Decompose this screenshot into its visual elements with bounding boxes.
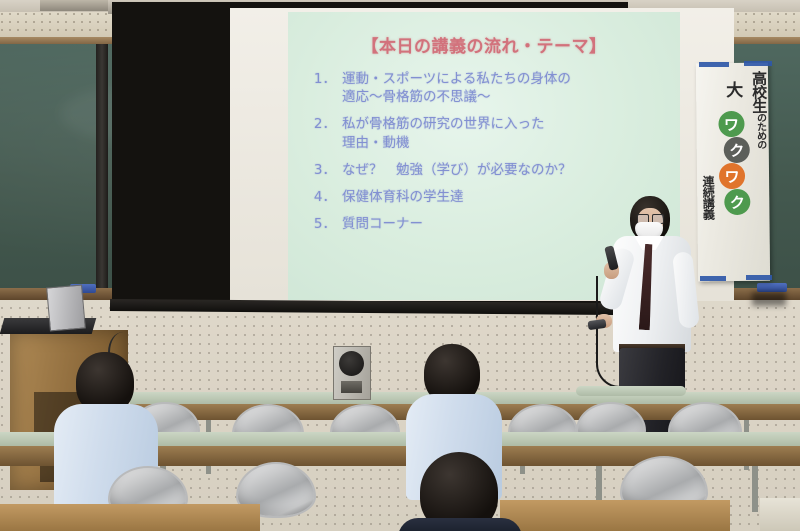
table-top-strip (576, 386, 686, 396)
list-item-text: 質問コーナー (342, 215, 670, 233)
list-item-number: 5． (310, 215, 342, 233)
banner-tape-bottom-right (746, 275, 772, 280)
list-item-line1: 質問コーナー (342, 216, 423, 232)
chalkboard-divider-left (96, 44, 108, 290)
banner-circle-4: ク (724, 189, 750, 215)
list-item-line1: なぜ？ 勉強（学び）が必要なのか？ (342, 162, 572, 178)
banner-text-small: のための (754, 113, 765, 149)
eraser-shadow (752, 292, 786, 306)
list-item-number: 1． (310, 70, 342, 88)
list-item-line2: 理由・動機 (342, 134, 670, 152)
list-item-number: 4． (310, 188, 342, 206)
slide-agenda-list: 1． 運動・スポーツによる私たちの身体の 適応〜骨格筋の不思議〜 2． 私が骨格… (310, 70, 670, 243)
banner-tape-left (699, 62, 729, 67)
banner-circle-2: ク (724, 137, 750, 163)
banner-text-main: 高校生 (750, 71, 768, 113)
list-item: 1． 運動・スポーツによる私たちの身体の 適応〜骨格筋の不思議〜 (310, 70, 670, 106)
list-item-text: 運動・スポーツによる私たちの身体の 適応〜骨格筋の不思議〜 (342, 70, 670, 106)
list-item: 5． 質問コーナー (310, 215, 670, 233)
slide-title: 【本日の講義の流れ・テーマ】 (288, 32, 680, 57)
list-item: 4． 保健体育科の学生達 (310, 188, 670, 206)
speaker-cone-icon (339, 351, 364, 376)
list-item-text: 私が骨格筋の研究の世界に入った 理由・動機 (342, 115, 670, 151)
student-torso (398, 518, 522, 531)
table-leg (752, 466, 758, 512)
banner-column-mid: 大 (720, 81, 745, 98)
event-banner: 高校生のための 大 ワ ク ワ ク 連続講義 (696, 63, 770, 282)
laptop-screen[interactable] (46, 285, 86, 332)
list-item-line2: 適応〜骨格筋の不思議〜 (342, 88, 670, 106)
list-item: 3． なぜ？ 勉強（学び）が必要なのか？ (310, 161, 670, 179)
banner-circle-1: ワ (718, 111, 744, 137)
audio-speaker (333, 346, 371, 400)
banner-tape-right (744, 61, 772, 66)
table-front-right (500, 500, 730, 531)
banner-column-right: 高校生のための (751, 71, 767, 149)
table-front-left (0, 504, 260, 531)
projection-screen-frame: 【本日の講義の流れ・テーマ】 1． 運動・スポーツによる私たちの身体の 適応〜骨… (112, 2, 628, 305)
banner-circle-3: ワ (719, 163, 745, 189)
chalk-eraser-right (757, 283, 787, 292)
list-item-line1: 保健体育科の学生達 (342, 189, 464, 205)
classroom-photo: 【本日の講義の流れ・テーマ】 1． 運動・スポーツによる私たちの身体の 適応〜骨… (0, 0, 800, 531)
banner-column-left: 連続講義 (700, 175, 717, 219)
list-item-number: 3． (310, 161, 342, 179)
list-item-line1: 運動・スポーツによる私たちの身体の (342, 71, 571, 87)
speaker-vent (341, 381, 362, 393)
list-item-text: なぜ？ 勉強（学び）が必要なのか？ (342, 161, 670, 179)
list-item-line1: 私が骨格筋の研究の世界に入った (342, 116, 545, 132)
list-item: 2． 私が骨格筋の研究の世界に入った 理由・動機 (310, 115, 670, 151)
list-item-text: 保健体育科の学生達 (342, 188, 670, 206)
paper-on-table (760, 498, 800, 531)
banner-tape-bottom-left (700, 276, 726, 281)
list-item-number: 2． (310, 115, 342, 133)
